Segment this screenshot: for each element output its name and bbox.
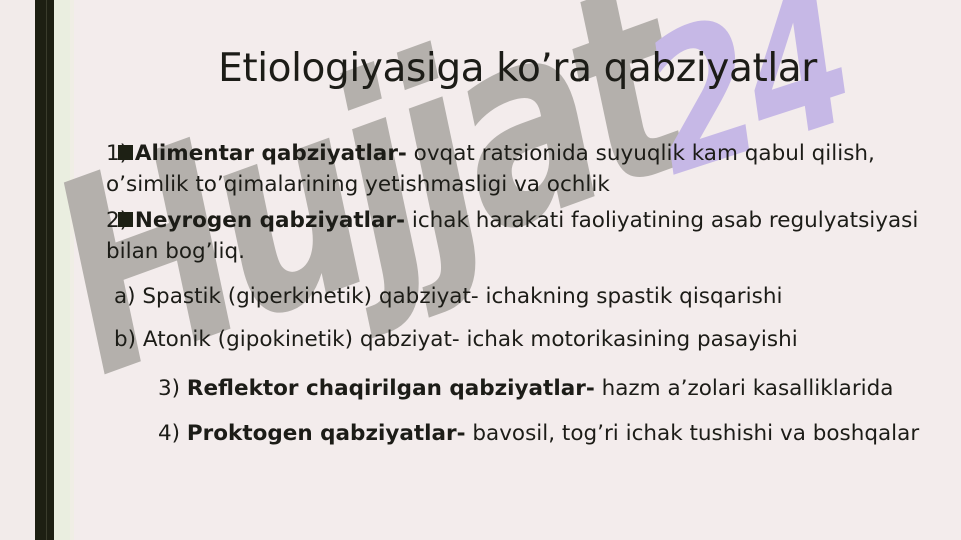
bullet-bold-2: Neyrogen qabziyatlar- [135,208,405,233]
page-title: Etiologiyasiga ko’ra qabziyatlar [74,46,961,91]
numbered-item-3-bold: Reflektor chaqirilgan qabziyatlar- [187,376,595,401]
numbered-item-4-rest: bavosil, tog’ri ichak tushishi va boshqa… [466,421,920,446]
slide-content: Etiologiyasiga ko’ra qabziyatlar 1) Alim… [74,0,961,540]
sub-item-b-text: Atonik (gipokinetik) qabziyat- ichak mot… [136,327,798,352]
sub-item-b: b) Atonik (gipokinetik) qabziyat- ichak … [74,324,961,355]
numbered-item-4-bold: Proktogen qabziyatlar- [187,421,466,446]
bullet-bold-1: Alimentar qabziyatlar- [135,141,407,166]
bullet-item-1: 1) Alimentar qabziyatlar- ovqat ratsioni… [74,138,961,200]
square-bullet-icon [118,212,133,227]
sub-item-b-label: b) [114,327,136,352]
numbered-item-3-rest: hazm a’zolari kasalliklarida [595,376,894,401]
left-accent-bar-dark [35,0,54,540]
bullet-item-2: 2) Neyrogen qabziyatlar- ichak harakati … [74,205,961,267]
sub-item-a-label: a) [114,284,136,309]
numbered-item-3-number: 3) [158,376,180,401]
left-accent-bar-hairline [46,0,47,540]
numbered-item-3: 3) Reflektor chaqirilgan qabziyatlar- ha… [74,373,961,404]
slide-canvas: Hujjat 24 Etiologiyasiga ko’ra qabziyatl… [0,0,961,540]
left-accent-bar-pale [54,0,70,540]
left-margin-band [0,0,35,540]
sub-item-a: a) Spastik (giperkinetik) qabziyat- icha… [74,281,961,312]
square-bullet-icon [118,145,133,160]
numbered-item-4-number: 4) [158,421,180,446]
body-text-block: 1) Alimentar qabziyatlar- ovqat ratsioni… [74,138,961,449]
numbered-item-4: 4) Proktogen qabziyatlar- bavosil, tog’r… [74,418,961,449]
sub-item-a-text: Spastik (giperkinetik) qabziyat- ichakni… [136,284,783,309]
